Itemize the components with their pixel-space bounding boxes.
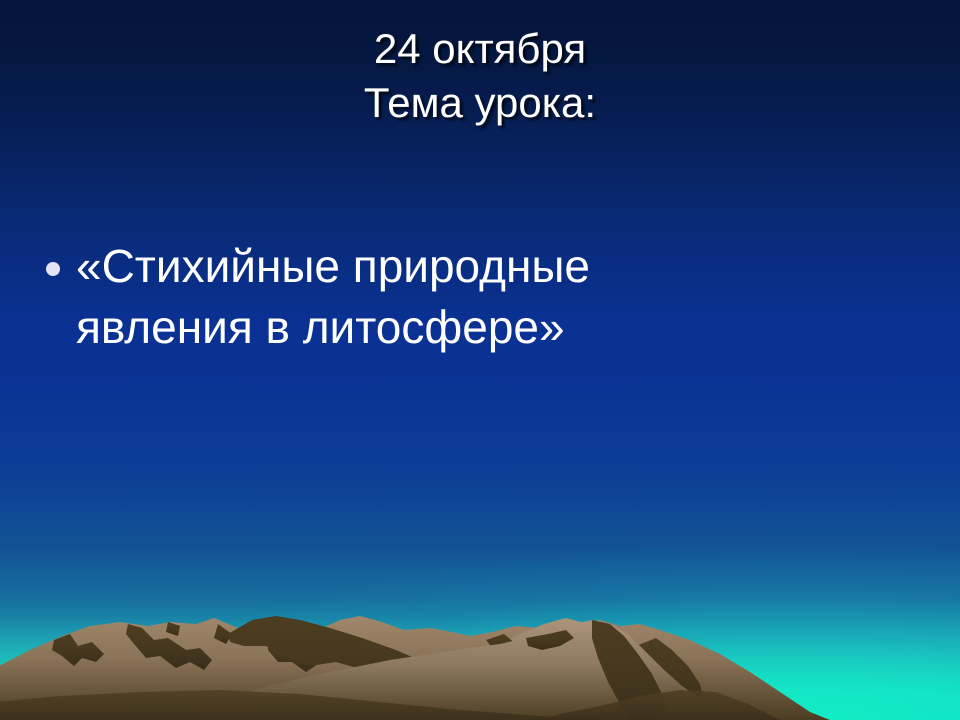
title-line-subject: Тема урока:: [0, 76, 960, 130]
slide-title: 24 октября Тема урока:: [0, 22, 960, 130]
presentation-slide: 24 октября Тема урока: «Стихийные природ…: [0, 0, 960, 720]
bullet-point-icon: [46, 262, 60, 276]
bullet-item-text: «Стихийные природные явления в литосфере…: [76, 236, 746, 357]
title-line-date: 24 октября: [0, 22, 960, 76]
mountain-range-illustration: [0, 610, 960, 720]
bullet-list: «Стихийные природные явления в литосфере…: [46, 236, 746, 357]
